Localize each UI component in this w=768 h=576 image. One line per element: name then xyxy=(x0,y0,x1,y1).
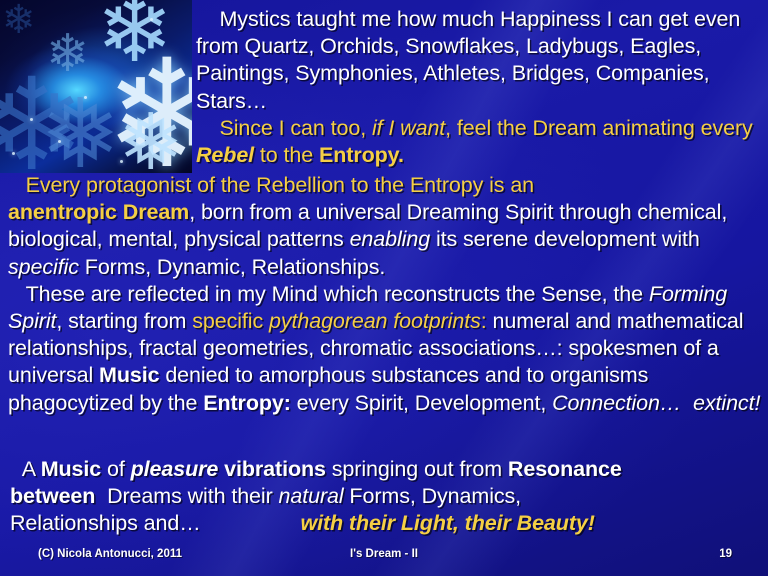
text-run: Forms, Dynamic, Relationships. xyxy=(79,255,385,279)
text-run: vibrations xyxy=(218,457,326,481)
text-run: of xyxy=(101,457,130,481)
snowflakes-photo: ❄ ❄ ❅ ❄ ❄ ❄ ❅ xyxy=(0,0,192,173)
footer-page-number: 19 xyxy=(719,548,732,560)
body-paragraph-middle: Every protagonist of the Rebellion to th… xyxy=(8,172,764,417)
text-run: , starting from xyxy=(56,309,192,333)
text-run: , feel the Dream animating every xyxy=(445,116,758,140)
snowflake-icon: ❄ xyxy=(46,28,90,80)
text-run: Music xyxy=(41,457,101,481)
text-run: Dreams with their xyxy=(95,484,278,508)
text-run: Forms, Dynamics, xyxy=(344,484,521,508)
text-run: Entropy: xyxy=(203,391,291,415)
text-run: : xyxy=(481,309,493,333)
sparkle-dot xyxy=(58,140,61,143)
snowflake-icon: ❅ xyxy=(118,104,183,173)
text-run: Entropy. xyxy=(319,143,404,167)
slide-canvas: ❄ ❄ ❅ ❄ ❄ ❄ ❅ Mystics taught me how much… xyxy=(0,0,768,576)
text-run: Resonance xyxy=(508,457,622,481)
text-run: anentropic Dream xyxy=(8,200,189,224)
text-run: springing out from xyxy=(326,457,508,481)
text-run: natural xyxy=(279,484,344,508)
text-run: with their Light, their Beauty! xyxy=(300,511,594,535)
sparkle-dot xyxy=(150,18,153,21)
text-run: specific xyxy=(192,309,269,333)
text-run: to the xyxy=(254,143,319,167)
text-run: pleasure xyxy=(131,457,219,481)
text-run: These are reflected in my Mind which rec… xyxy=(8,282,649,306)
sparkle-dot xyxy=(12,152,15,155)
text-run: Since I can too, xyxy=(196,116,372,140)
text-run: Rebel xyxy=(196,143,254,167)
body-paragraph-top: Mystics taught me how much Happiness I c… xyxy=(196,6,762,169)
text-run: A xyxy=(10,457,41,481)
sparkle-dot xyxy=(30,118,33,121)
footer-title: I's Dream - II xyxy=(0,548,768,560)
text-run: if I want xyxy=(372,116,445,140)
text-run: Connection… xyxy=(552,391,681,415)
text-run: Mystics taught me how much Happiness I c… xyxy=(196,7,746,113)
text-run: specific xyxy=(8,255,79,279)
body-paragraph-bottom: A Music of pleasure vibrations springing… xyxy=(10,456,762,538)
snowflake-icon: ❄ xyxy=(2,0,36,40)
text-run: every Spirit, Development, xyxy=(291,391,552,415)
text-run: enabling xyxy=(350,227,431,251)
slide-footer: (C) Nicola Antonucci, 2011 I's Dream - I… xyxy=(0,546,768,566)
text-run: Music xyxy=(99,363,159,387)
text-run: Relationships and… xyxy=(10,511,300,535)
text-run: its serene development with xyxy=(430,227,706,251)
sparkle-dot xyxy=(84,96,87,99)
text-run xyxy=(681,391,693,415)
text-run: Every protagonist of the Rebellion to th… xyxy=(8,173,534,197)
text-run: pythagorean footprints xyxy=(269,309,481,333)
text-run: between xyxy=(10,484,95,508)
text-run: extinct! xyxy=(693,391,760,415)
sparkle-dot xyxy=(120,160,123,163)
